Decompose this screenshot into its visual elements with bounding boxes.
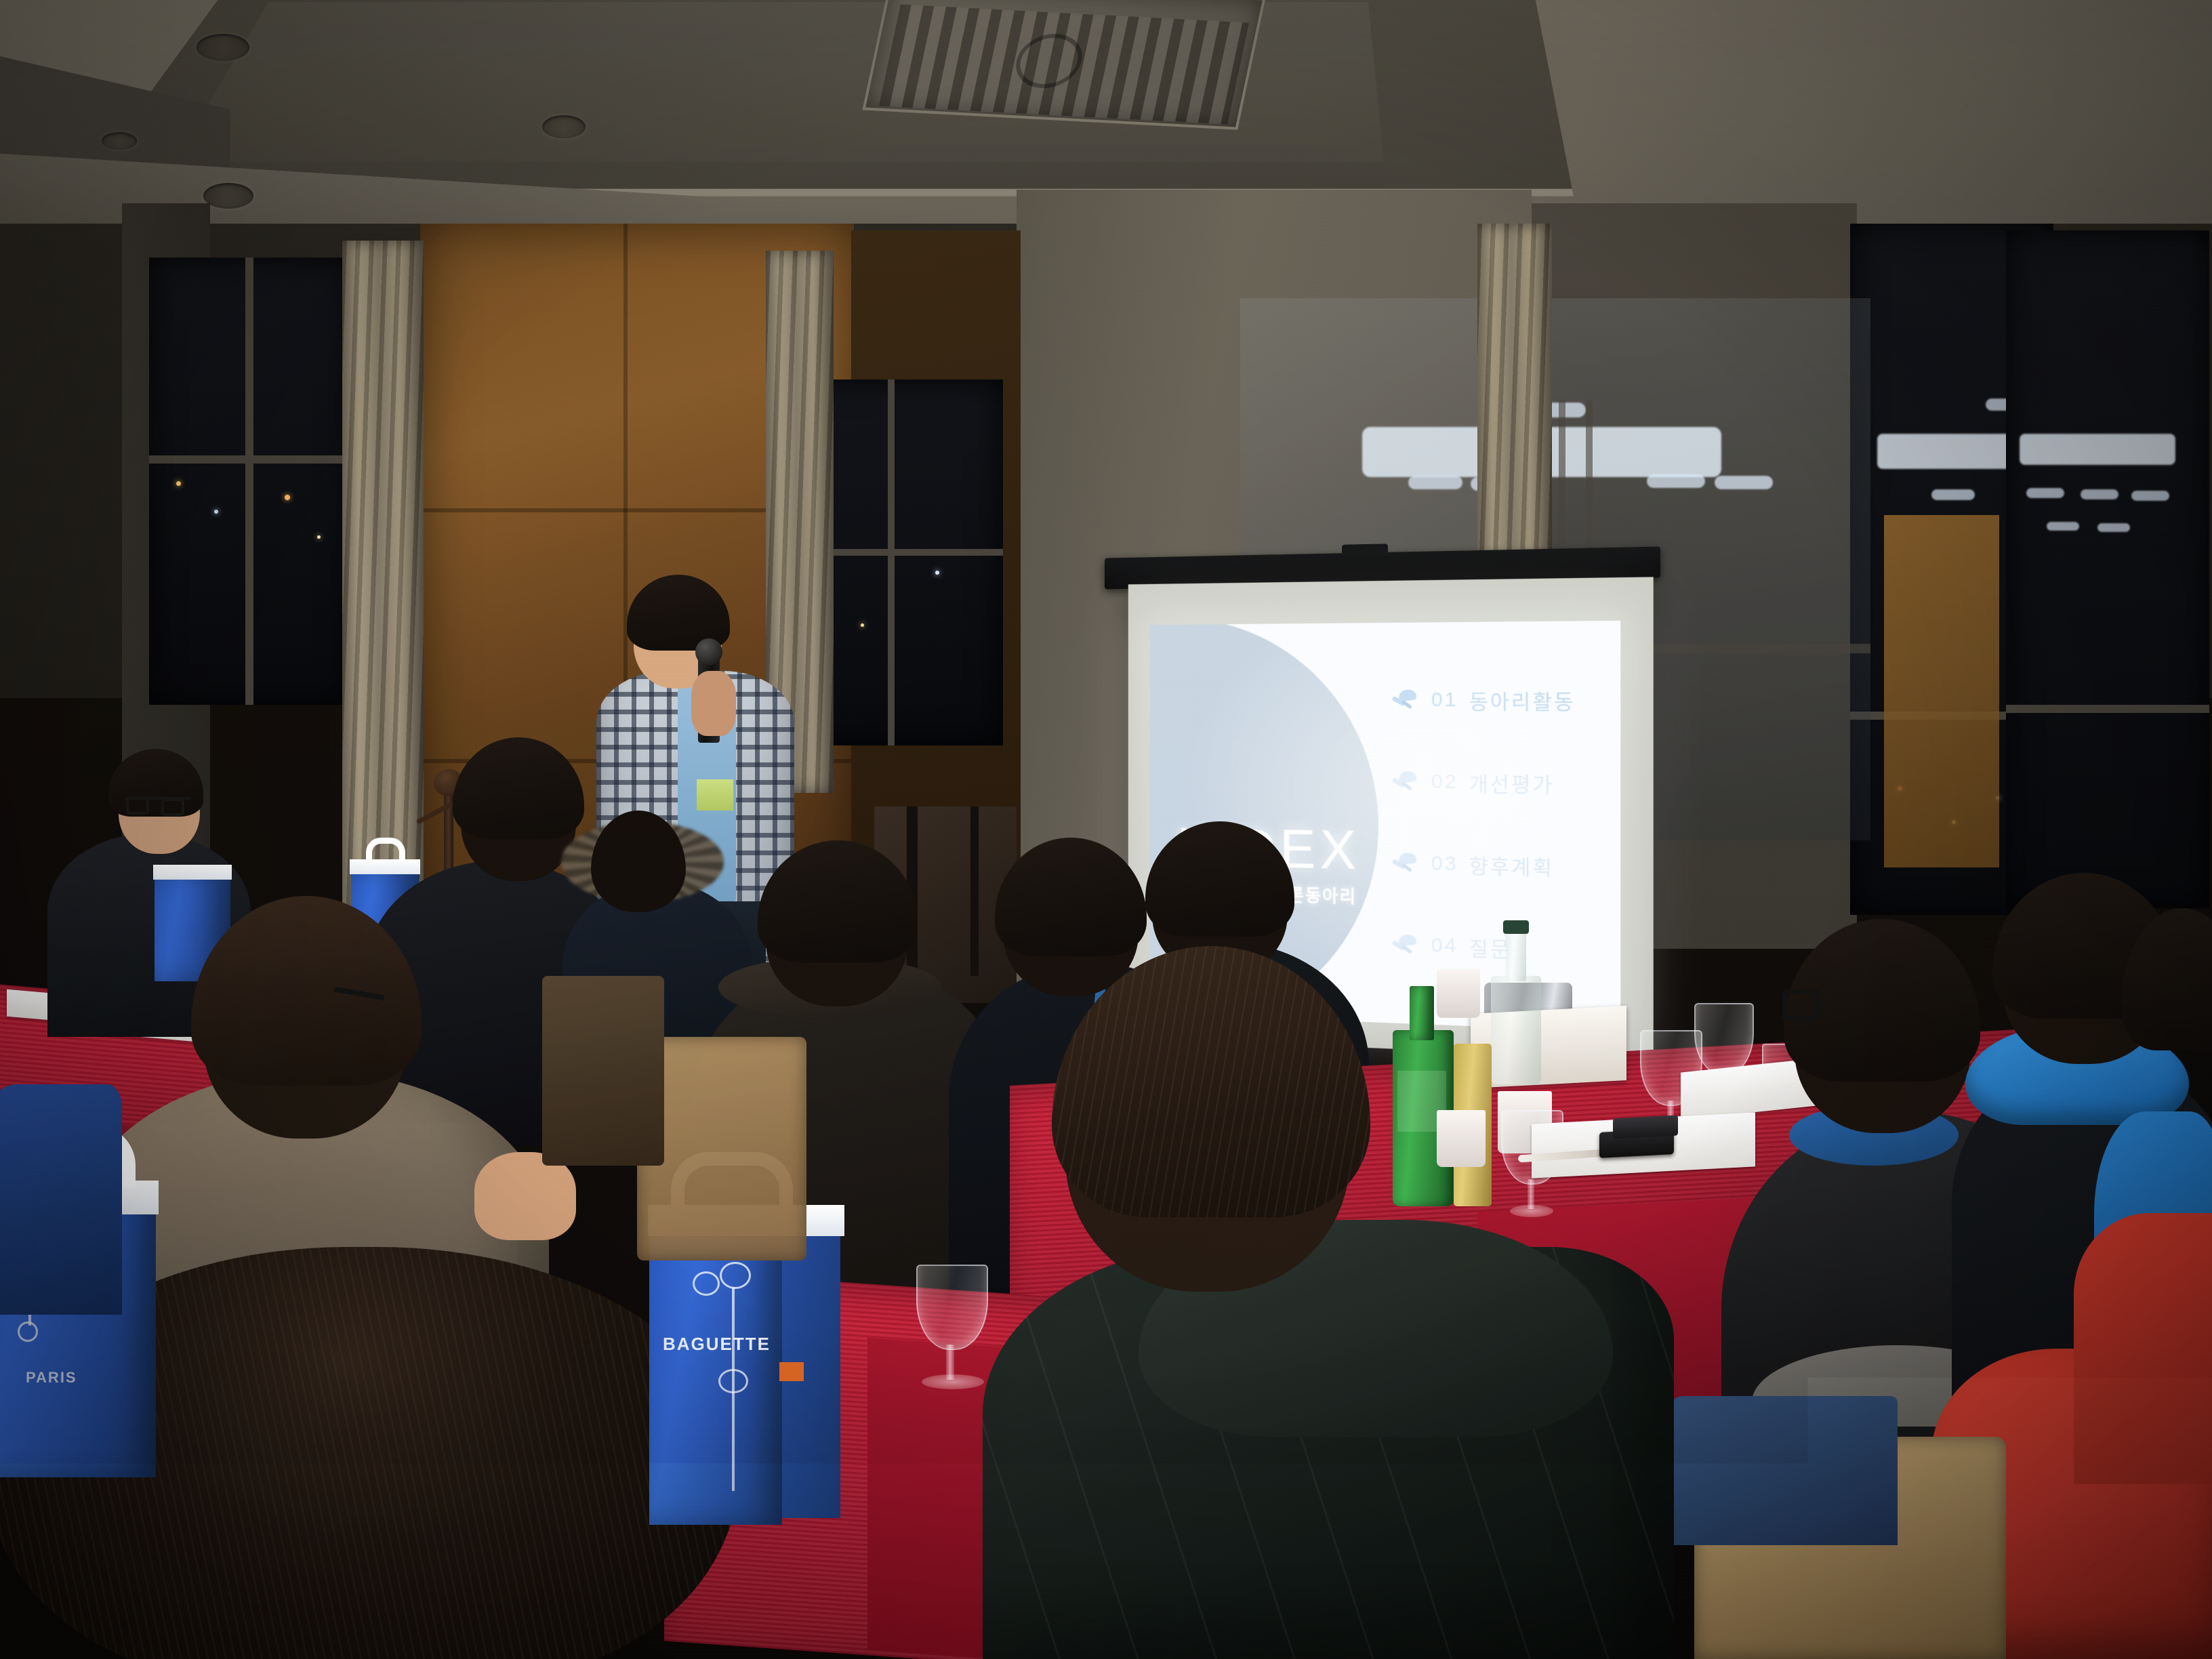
bag-swirl-decoration <box>720 1262 751 1289</box>
audience-member <box>0 1084 122 1315</box>
bottle-cap-icon <box>1503 920 1529 934</box>
slide-item-number: 03 <box>1431 852 1458 876</box>
eyeglasses-lens <box>126 797 149 815</box>
eyeglasses-lens <box>161 798 184 816</box>
slide-bullet-icon <box>1392 934 1420 955</box>
slide-list-item: 02 개선평가 <box>1392 766 1554 798</box>
bag-swirl-decoration <box>18 1322 38 1342</box>
shopping-bag-brand: BAGUETTE <box>663 1334 771 1355</box>
photo-scene: INDEX 99분 토론동아리 01 동아리활동 02 개선평가 <box>0 0 2212 1659</box>
microphone-head-icon <box>695 638 722 665</box>
chair <box>542 976 664 1166</box>
slide-bullet-icon <box>1392 771 1420 792</box>
paper-cup <box>1437 969 1480 1018</box>
jeans <box>1667 1396 1898 1545</box>
slide-list-item: 04 질문 <box>1392 929 1511 963</box>
notebook-device <box>1613 1115 1678 1139</box>
slide-item-number: 02 <box>1431 771 1458 794</box>
slide-item-label: 질문 <box>1469 932 1511 963</box>
slide-item-label: 향후계획 <box>1469 849 1554 881</box>
window-left <box>149 258 352 705</box>
bag-swirl-decoration <box>693 1271 720 1296</box>
slide-list-item: 01 동아리활동 <box>1392 685 1576 716</box>
soda-bottle-neck <box>1410 986 1434 1040</box>
slide-item-label: 개선평가 <box>1469 767 1554 798</box>
shopping-bag <box>649 1220 782 1525</box>
slide-bullet-icon <box>1392 853 1420 874</box>
shopping-bag-handle <box>366 838 405 862</box>
downlight-icon <box>203 183 253 209</box>
water-bottle-neck <box>1506 928 1526 981</box>
downlight-icon <box>542 115 586 138</box>
shopping-bag-rim <box>153 865 232 880</box>
window-right-b <box>2006 230 2209 908</box>
audience-member <box>2074 1213 2212 1484</box>
downlight-icon <box>102 132 137 150</box>
eyeglasses-icon <box>1782 989 1820 1021</box>
slide-item-label: 동아리활동 <box>1469 685 1576 716</box>
downlight-icon <box>197 34 249 61</box>
slide-item-number: 04 <box>1431 934 1458 958</box>
presenter-hand <box>691 671 736 736</box>
screen-case-knob <box>1342 544 1388 556</box>
slide-item-number: 01 <box>1431 689 1458 712</box>
bag-orange-accent <box>779 1362 804 1381</box>
shopping-bag-brand: PARIS <box>26 1369 77 1387</box>
water-bottle <box>1491 976 1541 1084</box>
stand-post <box>970 806 979 976</box>
wine-glass-foot <box>922 1374 984 1389</box>
slide-bullet-icon <box>1392 690 1420 710</box>
presenter-name-badge <box>697 779 733 811</box>
paper-cup <box>1437 1110 1486 1167</box>
bag-swirl-decoration <box>718 1369 748 1393</box>
reflected-wood-wall <box>1884 515 1999 867</box>
slide-list-item: 03 향후계획 <box>1392 848 1554 881</box>
wine-glass-foot <box>1510 1205 1553 1217</box>
